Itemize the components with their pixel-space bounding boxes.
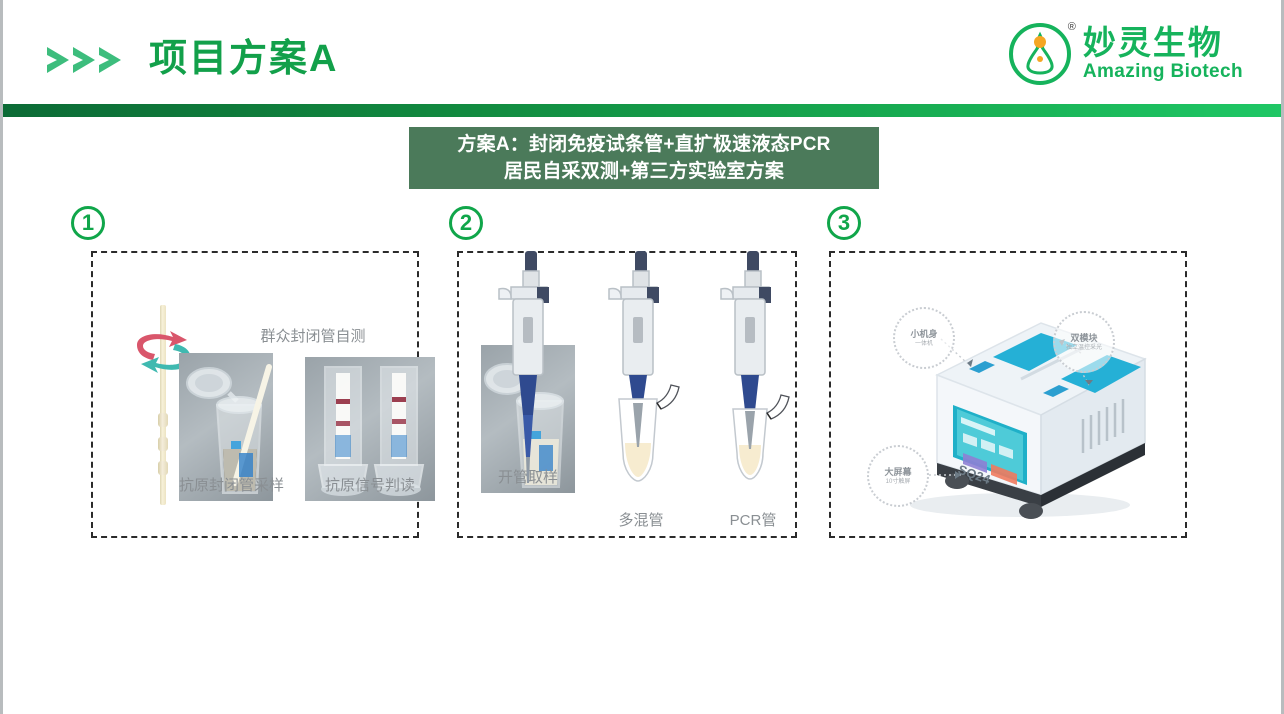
flask-emblem-icon: ®: [1007, 21, 1073, 87]
step-badge-1: 1: [71, 206, 105, 240]
slide-root: 项目方案A ® 妙灵生物 Amazing Biotech 方案A：封闭免疫试条管…: [0, 0, 1284, 714]
figure-test-strip-tubes: 抗原信号判读: [305, 357, 435, 501]
figure-sample-tube: 抗原封闭管采样: [179, 353, 273, 501]
header-divider-bar: [3, 104, 1281, 117]
callout-2-sub: 独立温控采光: [1066, 344, 1102, 352]
callout-1-sub: 一体机: [915, 340, 933, 348]
figure-label-1-2: 抗原信号判读: [305, 474, 435, 495]
slide-header: 项目方案A ® 妙灵生物 Amazing Biotech: [3, 0, 1281, 104]
callout-2-title: 双模块: [1070, 333, 1097, 344]
banner-line-1: 方案A：封闭免疫试条管+直扩极速液态PCR: [457, 131, 830, 158]
pipette-2-icon: [599, 247, 683, 497]
figure-label-2-2: 多混管: [599, 509, 683, 530]
step-1-hint-label: 群众封闭管自测: [213, 325, 413, 346]
rotating-swab-icon: [157, 305, 167, 505]
logo-name-en: Amazing Biotech: [1083, 61, 1243, 83]
step-1-content-box: 群众封闭管自测: [91, 251, 419, 538]
callout-large-screen: 大屏幕 10寸触屏: [867, 445, 929, 507]
registered-trademark-mark: ®: [1068, 21, 1076, 33]
scheme-banner: 方案A：封闭免疫试条管+直扩极速液态PCR 居民自采双测+第三方实验室方案: [409, 127, 879, 189]
callout-3-title: 大屏幕: [884, 467, 911, 478]
banner-line-2: 居民自采双测+第三方实验室方案: [504, 158, 784, 185]
triple-chevron-right-icon: [45, 44, 135, 76]
figure-label-2-3: PCR管: [711, 509, 795, 530]
pcr-instrument-photo: SQ24 小机身 一体机 双模块 独立温控采光: [845, 267, 1175, 525]
figure-label-1-1: 抗原封闭管采样: [179, 474, 273, 495]
brand-logo: ® 妙灵生物 Amazing Biotech: [1007, 18, 1243, 90]
pipette-1-icon: [489, 247, 573, 497]
callout-1-title: 小机身: [910, 329, 937, 340]
step-2-content-box: 开管取样: [457, 251, 797, 538]
step-badge-3: 3: [827, 206, 861, 240]
page-title: 项目方案A: [149, 36, 338, 82]
callout-3-sub: 10寸触屏: [886, 478, 911, 486]
step-badge-2: 2: [449, 206, 483, 240]
pipette-3-icon: [711, 247, 795, 497]
callout-compact-body: 小机身 一体机: [893, 307, 955, 369]
step-3-content-box: SQ24 小机身 一体机 双模块 独立温控采光: [829, 251, 1187, 538]
callout-dual-module: 双模块 独立温控采光: [1053, 311, 1115, 373]
logo-name-cn: 妙灵生物: [1083, 25, 1243, 61]
